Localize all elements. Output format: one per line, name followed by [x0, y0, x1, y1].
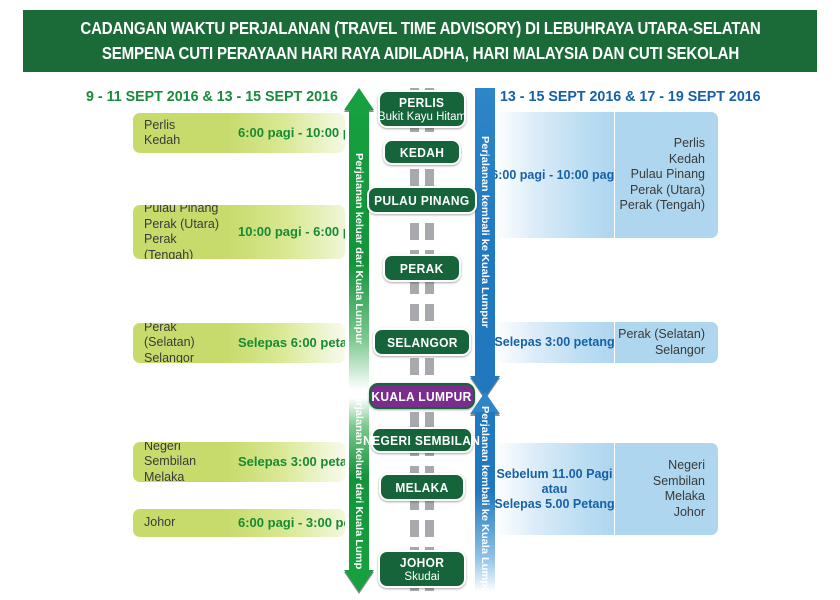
sign-melaka: MELAKA [379, 473, 465, 501]
place-label: Melaka [144, 470, 220, 482]
sign-name: MELAKA [395, 480, 448, 495]
inbound-row-3: Sebelum 11.00 Pagi atau Selepas 5.00 Pet… [495, 443, 718, 535]
time-label: Sebelum 11.00 Pagi [496, 467, 612, 482]
outbound-row-4-time: Selepas 3:00 petang [228, 442, 345, 482]
title-line-2: SEMPENA CUTI PERAYAAN HARI RAYA AIDILADH… [101, 41, 738, 66]
sign-pulau-pinang: PULAU PINANG [367, 186, 477, 214]
outbound-row-1: Perlis Kedah 6:00 pagi - 10:00 pagi [133, 113, 345, 153]
inbound-row-2-time: Selepas 3:00 petang [495, 322, 614, 363]
place-label: Kedah [669, 152, 705, 168]
outbound-row-3: Perak (Selatan) Selangor Selepas 6:00 pe… [133, 323, 345, 363]
outbound-row-5-time: 6:00 pagi - 3:00 petang [228, 509, 345, 537]
place-label: Melaka [665, 489, 705, 505]
left-column-header: 9 - 11 SEPT 2016 & 13 - 15 SEPT 2016 [86, 88, 338, 105]
place-label: Johor [674, 505, 705, 521]
outbound-arrow-up-label: Perjalanan keluar dari Kuala Lumpur [353, 153, 364, 344]
inbound-row-3-time: Sebelum 11.00 Pagi atau Selepas 5.00 Pet… [495, 443, 614, 535]
place-label: Perak (Selatan) [144, 323, 220, 351]
inbound-arrow-up-label: Perjalanan kembali ke Kuala Lumpur [479, 406, 490, 598]
outbound-row-4-places: Negeri Sembilan Melaka [133, 442, 228, 482]
sign-name: KEDAH [400, 145, 444, 160]
outbound-arrow-down: Perjalanan keluar dari Kuala Lumpur [344, 398, 374, 592]
place-label: Selangor [655, 343, 705, 359]
time-label: atau [542, 482, 568, 497]
place-label: Pulau Pinang [144, 205, 220, 217]
place-label: Negeri Sembilan [144, 442, 220, 470]
sign-name: PULAU PINANG [374, 193, 469, 208]
time-label: 6:00 pagi - 10:00 pagi [495, 168, 618, 183]
place-label: Perlis [674, 136, 705, 152]
inbound-arrow-down-label: Perjalanan kembali ke Kuala Lumpur [479, 136, 490, 328]
outbound-row-1-places: Perlis Kedah [133, 113, 228, 153]
place-label: Johor [144, 515, 220, 531]
outbound-row-2-places: Pulau Pinang Perak (Utara) Perak (Tengah… [133, 205, 228, 259]
sign-kuala-lumpur: KUALA LUMPUR [369, 383, 475, 409]
outbound-arrow-down-shaft: Perjalanan keluar dari Kuala Lumpur [349, 398, 369, 572]
place-label: Perak (Selatan) [618, 327, 705, 343]
outbound-row-2: Pulau Pinang Perak (Utara) Perak (Tengah… [133, 205, 345, 259]
sign-name: JOHOR [400, 555, 444, 570]
outbound-row-5: Johor 6:00 pagi - 3:00 petang [133, 509, 345, 537]
place-label: Kedah [144, 133, 220, 149]
inbound-row-2: Selepas 3:00 petang Perak (Selatan) Sela… [495, 322, 718, 363]
inbound-row-1-time: 6:00 pagi - 10:00 pagi [495, 112, 614, 238]
inbound-row-1: 6:00 pagi - 10:00 pagi Perlis Kedah Pula… [495, 112, 718, 238]
right-column-header: 13 - 15 SEPT 2016 & 17 - 19 SEPT 2016 [500, 88, 761, 105]
time-label: Selepas 3:00 petang [495, 335, 615, 350]
outbound-row-5-places: Johor [133, 509, 228, 537]
outbound-row-3-places: Perak (Selatan) Selangor [133, 323, 228, 363]
outbound-row-4: Negeri Sembilan Melaka Selepas 3:00 peta… [133, 442, 345, 482]
place-label: Perak (Tengah) [620, 198, 705, 214]
arrow-head-down-icon [344, 570, 374, 592]
sign-negeri-sembilan: NEGERI SEMBILAN [371, 427, 473, 453]
place-label: Negeri Sembilan [615, 458, 705, 489]
sign-selangor: SELANGOR [373, 328, 471, 356]
inbound-arrow-down: Perjalanan kembali ke Kuala Lumpur [470, 88, 500, 398]
outbound-arrow-down-label: Perjalanan keluar dari Kuala Lumpur [353, 389, 364, 580]
sign-perlis: PERLIS Bukit Kayu Hitam [378, 90, 466, 128]
sign-johor: JOHOR Skudai [378, 550, 466, 588]
outbound-row-3-time: Selepas 6:00 petang [228, 323, 345, 363]
sign-name: KUALA LUMPUR [372, 389, 472, 404]
outbound-arrow-up-shaft: Perjalanan keluar dari Kuala Lumpur [349, 108, 369, 390]
sign-name: NEGERI SEMBILAN [363, 433, 480, 448]
sign-perak: PERAK [383, 254, 461, 282]
title-banner: CADANGAN WAKTU PERJALANAN (TRAVEL TIME A… [23, 10, 817, 72]
sign-name: SELANGOR [387, 335, 458, 350]
inbound-row-2-places: Perak (Selatan) Selangor [614, 322, 718, 363]
outbound-row-1-time: 6:00 pagi - 10:00 pagi [228, 113, 345, 153]
place-label: Perak (Tengah) [144, 232, 220, 259]
sign-sub: Bukit Kayu Hitam [378, 111, 466, 124]
arrow-head-up-icon [344, 88, 374, 110]
time-label: Selepas 5.00 Petang [495, 497, 615, 512]
inbound-row-3-places: Negeri Sembilan Melaka Johor [614, 443, 718, 535]
place-label: Selangor [144, 351, 220, 363]
inbound-arrow-up: Perjalanan kembali ke Kuala Lumpur [470, 392, 500, 592]
place-label: Pulau Pinang [631, 167, 705, 183]
place-label: Perak (Utara) [630, 183, 705, 199]
inbound-row-1-places: Perlis Kedah Pulau Pinang Perak (Utara) … [614, 112, 718, 238]
sign-name: PERAK [400, 261, 444, 276]
place-label: Perlis [144, 118, 220, 134]
place-label: Perak (Utara) [144, 217, 220, 233]
title-line-1: CADANGAN WAKTU PERJALANAN (TRAVEL TIME A… [80, 16, 760, 41]
sign-kedah: KEDAH [383, 139, 461, 165]
sign-name: PERLIS [399, 95, 444, 110]
outbound-row-2-time: 10:00 pagi - 6:00 petang [228, 205, 345, 259]
infographic-root: CADANGAN WAKTU PERJALANAN (TRAVEL TIME A… [0, 0, 840, 600]
outbound-arrow-up: Perjalanan keluar dari Kuala Lumpur [344, 88, 374, 390]
sign-sub: Skudai [404, 571, 439, 584]
inbound-arrow-down-shaft: Perjalanan kembali ke Kuala Lumpur [475, 88, 495, 376]
